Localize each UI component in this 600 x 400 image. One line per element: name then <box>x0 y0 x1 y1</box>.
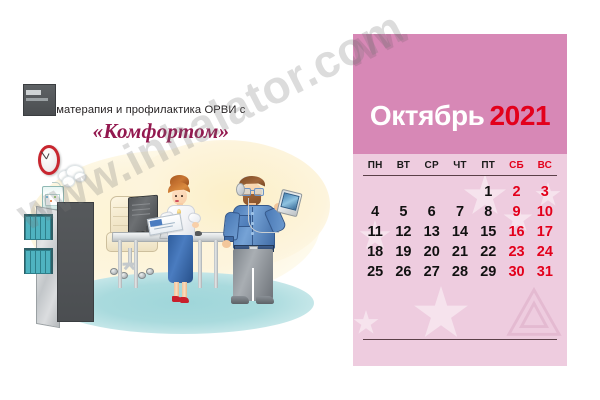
calendar-header <box>353 34 567 154</box>
day-cell[interactable]: 24 <box>531 242 559 262</box>
chair-caster <box>110 268 118 275</box>
promo-line-2: «Комфортом» <box>36 119 286 144</box>
day-cell[interactable]: 1 <box>474 182 502 202</box>
desk-leg <box>118 240 122 288</box>
day-cell[interactable]: 13 <box>418 222 446 242</box>
woman-shoe <box>180 297 189 303</box>
day-cell[interactable]: 18 <box>361 242 389 262</box>
desk-leg <box>134 240 138 288</box>
day-cell[interactable]: 30 <box>502 262 530 282</box>
day-cell[interactable]: 12 <box>389 222 417 242</box>
day-cell[interactable]: 26 <box>389 262 417 282</box>
day-cell[interactable]: 31 <box>531 262 559 282</box>
wall-clock-icon <box>38 145 60 175</box>
brand-logo-watermark <box>505 284 563 342</box>
calendar-poster: Ароматерапия и профилактика ОРВИ с «Комф… <box>0 0 600 400</box>
day-cell[interactable]: 6 <box>418 202 446 222</box>
day-cell[interactable]: 21 <box>446 242 474 262</box>
day-cell[interactable]: 20 <box>418 242 446 262</box>
day-cell[interactable]: 19 <box>389 242 417 262</box>
calendar-week-row: 25 26 27 28 29 30 31 <box>361 262 559 282</box>
day-cell[interactable]: 2 <box>502 182 530 202</box>
weekday-header-row: ПН ВТ СР ЧТ ПТ СБ ВС <box>361 160 559 174</box>
calendar-widget: Октябрь2021 ПН ВТ СР ЧТ ПТ СБ ВС 1 2 3 <box>353 34 567 366</box>
calendar-week-row: 1 2 3 <box>361 182 559 202</box>
weekday-fri: ПТ <box>474 160 502 174</box>
day-cell[interactable]: 4 <box>361 202 389 222</box>
woman-lips <box>175 200 179 202</box>
day-cell[interactable]: 11 <box>361 222 389 242</box>
woman-leg <box>182 282 187 298</box>
woman-hand-right <box>192 222 199 228</box>
calendar-week-row: 4 5 6 7 8 9 10 <box>361 202 559 222</box>
day-cell[interactable]: 8 <box>474 202 502 222</box>
calendar-footer-rule <box>363 339 557 340</box>
day-cell[interactable]: 14 <box>446 222 474 242</box>
woman-skirt <box>168 235 193 283</box>
promo-headline: Ароматерапия и профилактика ОРВИ с «Комф… <box>36 104 316 144</box>
calendar-month-label: Октябрь <box>370 100 485 131</box>
shelf-books-row <box>24 214 53 240</box>
steam-puff <box>74 172 86 182</box>
calendar-year-label: 2021 <box>489 100 550 131</box>
chair-caster <box>138 272 146 279</box>
weekday-wed: СР <box>418 160 446 174</box>
shelf-drawer-handle <box>26 98 48 101</box>
mouse <box>194 231 202 236</box>
man-pants-gap <box>252 268 254 301</box>
day-cell[interactable]: 15 <box>474 222 502 242</box>
calendar-title: Октябрь2021 <box>353 100 567 132</box>
day-cell[interactable]: 9 <box>502 202 530 222</box>
day-cell[interactable]: 10 <box>531 202 559 222</box>
day-cell[interactable]: 16 <box>502 222 530 242</box>
woman-eye <box>175 195 177 197</box>
day-cell[interactable]: 3 <box>531 182 559 202</box>
shelf-drawer-label <box>26 90 41 95</box>
calendar-week-row: 11 12 13 14 15 16 17 <box>361 222 559 242</box>
day-cell[interactable]: 28 <box>446 262 474 282</box>
day-cell[interactable]: 23 <box>502 242 530 262</box>
man-shoe <box>256 296 274 304</box>
day-cell[interactable]: 27 <box>418 262 446 282</box>
weekday-sun: ВС <box>531 160 559 174</box>
weekday-tue: ВТ <box>389 160 417 174</box>
day-cell <box>361 182 389 202</box>
day-cell <box>389 182 417 202</box>
chair-caster <box>146 268 154 275</box>
weekday-sat: СБ <box>502 160 530 174</box>
day-cell[interactable]: 25 <box>361 262 389 282</box>
promo-line-1: Ароматерапия и профилактика ОРВИ с <box>36 104 316 117</box>
day-cell <box>418 182 446 202</box>
illustration-panel: Ароматерапия и профилактика ОРВИ с «Комф… <box>0 0 340 400</box>
weekday-thu: ЧТ <box>446 160 474 174</box>
weekday-mon: ПН <box>361 160 389 174</box>
desk-leg <box>198 240 202 288</box>
day-cell[interactable]: 22 <box>474 242 502 262</box>
headphone-earcup <box>236 183 245 196</box>
woman-eye <box>181 195 183 197</box>
day-cell <box>446 182 474 202</box>
shelf-front-panel <box>57 202 94 322</box>
day-cell[interactable]: 7 <box>446 202 474 222</box>
calendar-header-rule <box>363 175 557 176</box>
calendar-grid: ПН ВТ СР ЧТ ПТ СБ ВС 1 2 3 4 5 6 <box>361 160 559 282</box>
day-cell[interactable]: 29 <box>474 262 502 282</box>
calendar-week-row: 18 19 20 21 22 23 24 <box>361 242 559 262</box>
shelf-books-row <box>24 248 53 274</box>
day-cell[interactable]: 5 <box>389 202 417 222</box>
man-shoe <box>231 296 249 304</box>
steam-puff <box>62 176 75 187</box>
headphone-cord <box>248 198 279 233</box>
man-hand-left <box>222 240 231 248</box>
shirt-button <box>251 232 254 235</box>
desk-leg <box>214 240 218 288</box>
day-cell[interactable]: 17 <box>531 222 559 242</box>
